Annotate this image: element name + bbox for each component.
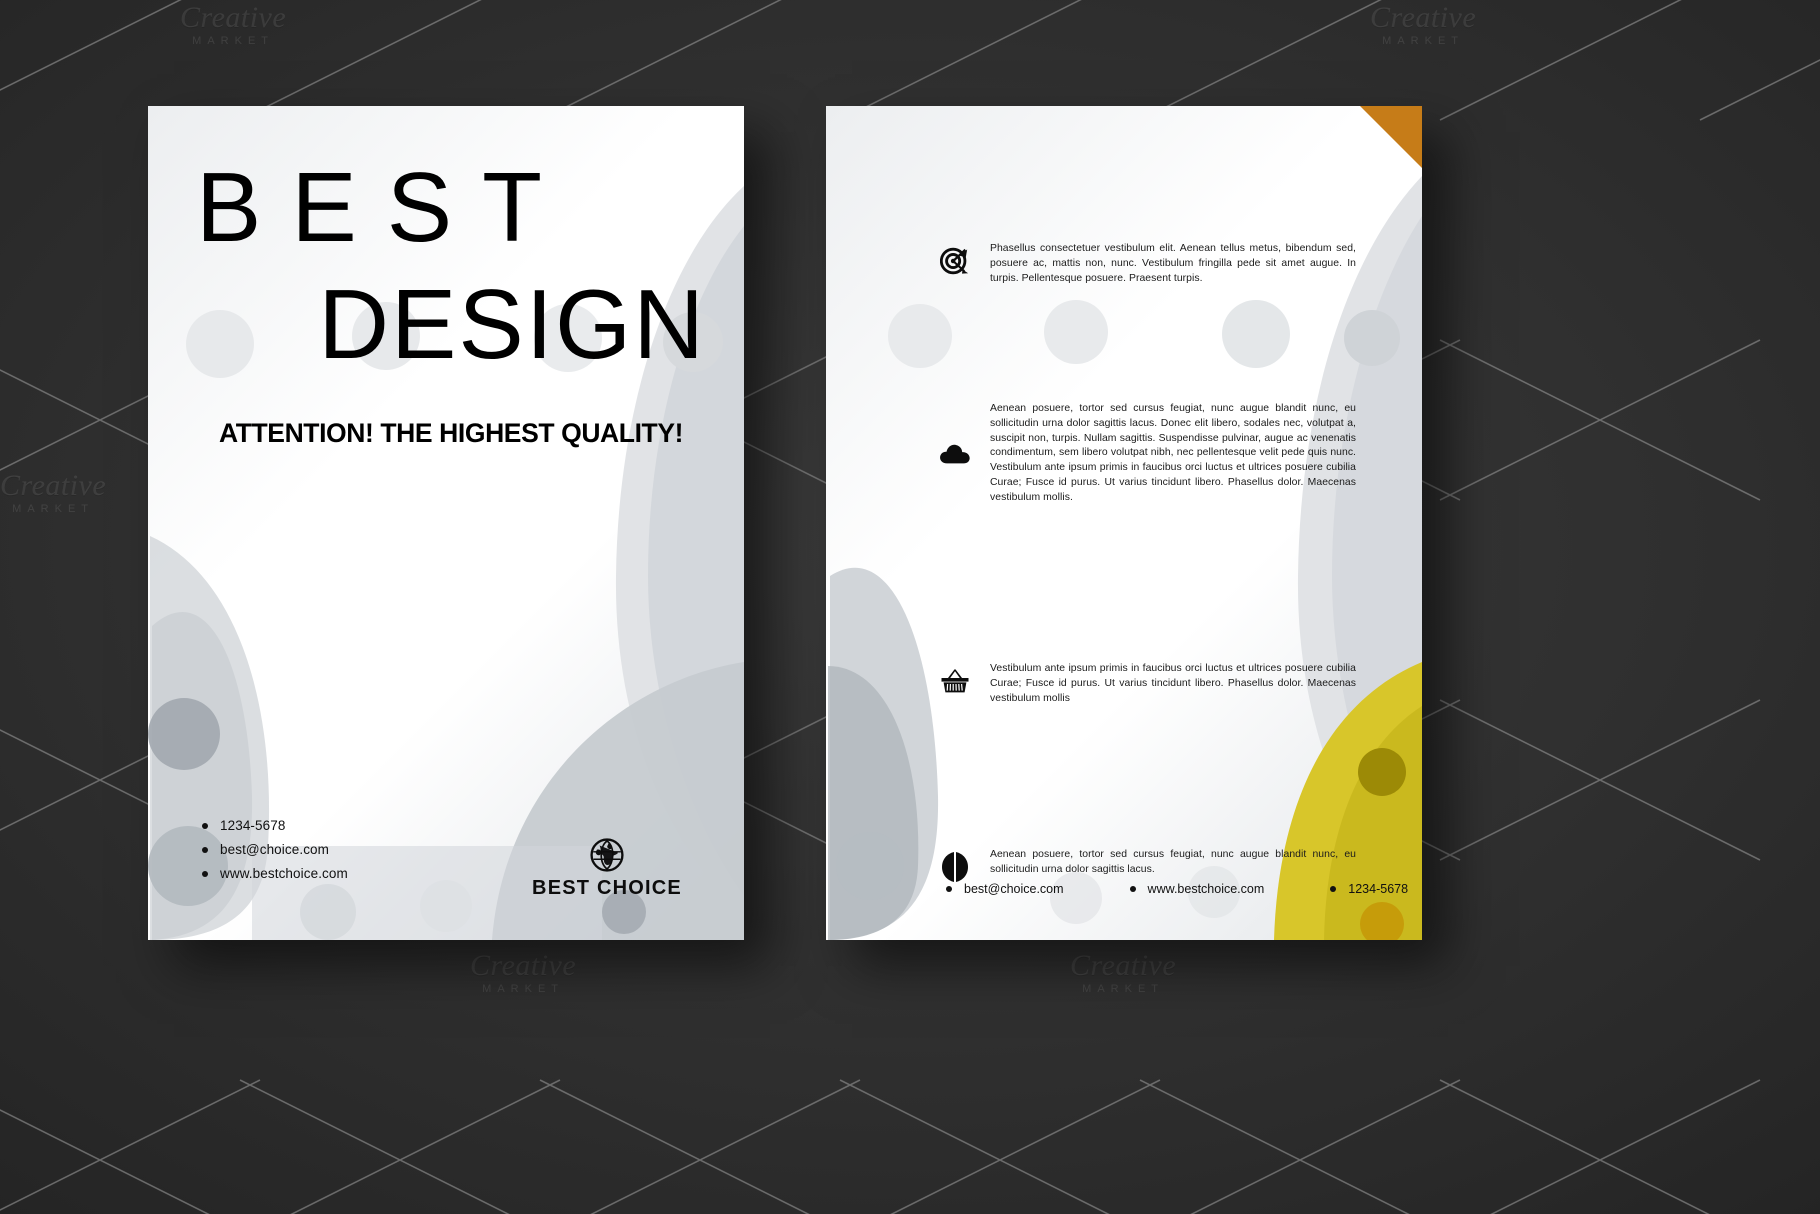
brand-name: BEST CHOICE xyxy=(512,877,702,900)
cloud-icon xyxy=(936,435,974,473)
feature-item[interactable]: Aenean posuere, tortor sed cursus feugia… xyxy=(936,402,1356,505)
split-circle-icon xyxy=(936,848,974,886)
watermark-label: Creative MARKET xyxy=(1070,950,1176,995)
footer-contact-website[interactable]: www.bestchoice.com xyxy=(1130,882,1265,896)
bullet-icon xyxy=(946,886,952,892)
watermark-label: Creative MARKET xyxy=(1370,2,1476,47)
feature-item[interactable]: Phasellus consectetuer vestibulum elit. … xyxy=(936,242,1356,286)
watermark-sub: MARKET xyxy=(1070,984,1176,996)
contact-text: best@choice.com xyxy=(220,842,329,857)
contact-item-website[interactable]: www.bestchoice.com xyxy=(202,866,348,881)
page-title-line-2: DESIGN xyxy=(196,272,706,378)
watermark-sub: MARKET xyxy=(180,36,286,48)
contact-item-phone[interactable]: 1234-5678 xyxy=(202,818,348,833)
feature-item[interactable]: Aenean posuere, tortor sed cursus feugia… xyxy=(936,848,1356,886)
watermark-label: Creative MARKET xyxy=(0,470,106,515)
page-title-line-1: BEST xyxy=(196,158,706,256)
page-subtitle: ATTENTION! THE HIGHEST QUALITY! xyxy=(196,418,706,449)
bullet-icon xyxy=(202,823,208,829)
front-contact-list: 1234-5678 best@choice.com www.bestchoice… xyxy=(202,818,348,890)
watermark-sub: MARKET xyxy=(1370,36,1476,48)
bullet-icon xyxy=(202,871,208,877)
watermark-sub: MARKET xyxy=(470,984,576,996)
contact-text: www.bestchoice.com xyxy=(220,866,348,881)
watermark-main: Creative xyxy=(1070,950,1176,982)
footer-contact-text: best@choice.com xyxy=(964,882,1064,896)
footer-contact-phone[interactable]: 1234-5678 xyxy=(1330,882,1408,896)
footer-contact-email[interactable]: best@choice.com xyxy=(946,882,1064,896)
feature-item[interactable]: Vestibulum ante ipsum primis in faucibus… xyxy=(936,662,1356,706)
flyer-front-page[interactable]: BEST DESIGN ATTENTION! THE HIGHEST QUALI… xyxy=(148,106,744,940)
basket-icon xyxy=(936,662,974,700)
feature-text: Phasellus consectetuer vestibulum elit. … xyxy=(990,242,1356,286)
watermark-main: Creative xyxy=(0,470,106,502)
feature-text: Aenean posuere, tortor sed cursus feugia… xyxy=(990,848,1356,878)
target-icon xyxy=(936,242,974,280)
contact-text: 1234-5678 xyxy=(220,818,285,833)
back-page-decorative-shapes xyxy=(826,106,1422,940)
orange-corner-shape xyxy=(1360,106,1422,168)
watermark-main: Creative xyxy=(1370,2,1476,34)
bullet-icon xyxy=(202,847,208,853)
back-footer-contacts: best@choice.com www.bestchoice.com 1234-… xyxy=(946,882,1408,896)
feature-text: Vestibulum ante ipsum primis in faucibus… xyxy=(990,662,1356,706)
feature-text: Aenean posuere, tortor sed cursus feugia… xyxy=(990,402,1356,505)
globe-icon xyxy=(590,838,624,872)
watermark-main: Creative xyxy=(470,950,576,982)
watermark-label: Creative MARKET xyxy=(470,950,576,995)
watermark-main: Creative xyxy=(180,2,286,34)
footer-contact-text: www.bestchoice.com xyxy=(1148,882,1265,896)
contact-item-email[interactable]: best@choice.com xyxy=(202,842,348,857)
footer-contact-text: 1234-5678 xyxy=(1348,882,1408,896)
bullet-icon xyxy=(1130,886,1136,892)
front-title-block: BEST DESIGN ATTENTION! THE HIGHEST QUALI… xyxy=(196,158,706,449)
bullet-icon xyxy=(1330,886,1336,892)
brand-logo-block[interactable]: BEST CHOICE xyxy=(512,838,702,900)
watermark-sub: MARKET xyxy=(0,504,106,516)
watermark-label: Creative MARKET xyxy=(180,2,286,47)
flyer-back-page[interactable]: Phasellus consectetuer vestibulum elit. … xyxy=(826,106,1422,940)
